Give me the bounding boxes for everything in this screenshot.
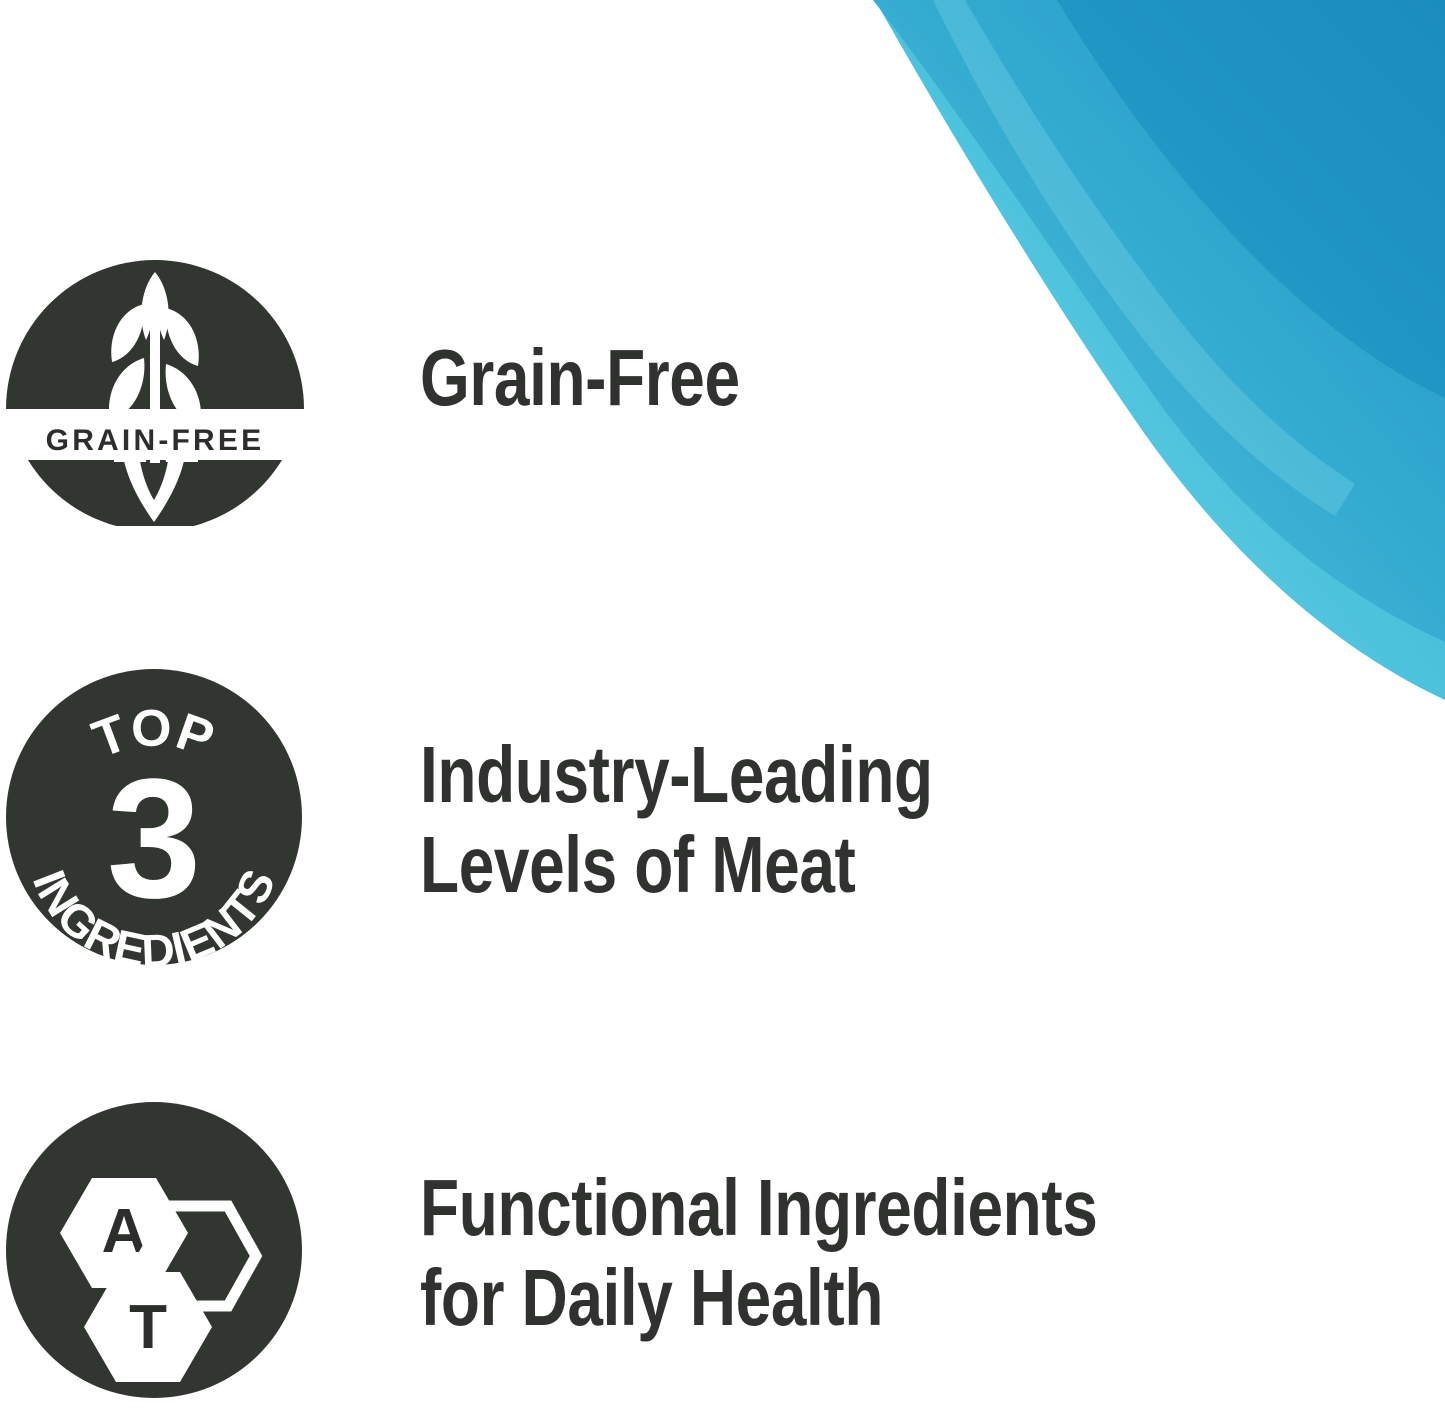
feature-row: TOP 3 INGREDIENTS Industry-Leading Level…: [0, 665, 1300, 975]
feature-highlights-panel: GRAIN-FREE Grain-Free TOP 3: [0, 0, 1445, 1411]
feature-label: Grain-Free: [420, 333, 740, 423]
badge-slot: TOP 3 INGREDIENTS: [0, 665, 420, 975]
badge-slot: A T: [0, 1100, 420, 1405]
svg-text:T: T: [129, 1293, 167, 1362]
functional-ingredients-hexagon-badge-icon: A T: [4, 1100, 304, 1400]
feature-row: A T Functional Ingredients for Daily Hea…: [0, 1100, 1300, 1405]
feature-label: Industry-Leading Levels of Meat: [420, 730, 933, 909]
number-3: 3: [107, 744, 202, 934]
top-3-ingredients-badge-icon: TOP 3 INGREDIENTS: [4, 665, 304, 970]
feature-row: GRAIN-FREE Grain-Free: [0, 228, 1300, 528]
grain-free-badge-icon: GRAIN-FREE: [4, 228, 306, 526]
badge-slot: GRAIN-FREE: [0, 228, 420, 528]
feature-label: Functional Ingredients for Daily Health: [420, 1163, 1097, 1342]
grain-free-wordmark: GRAIN-FREE: [46, 424, 265, 457]
